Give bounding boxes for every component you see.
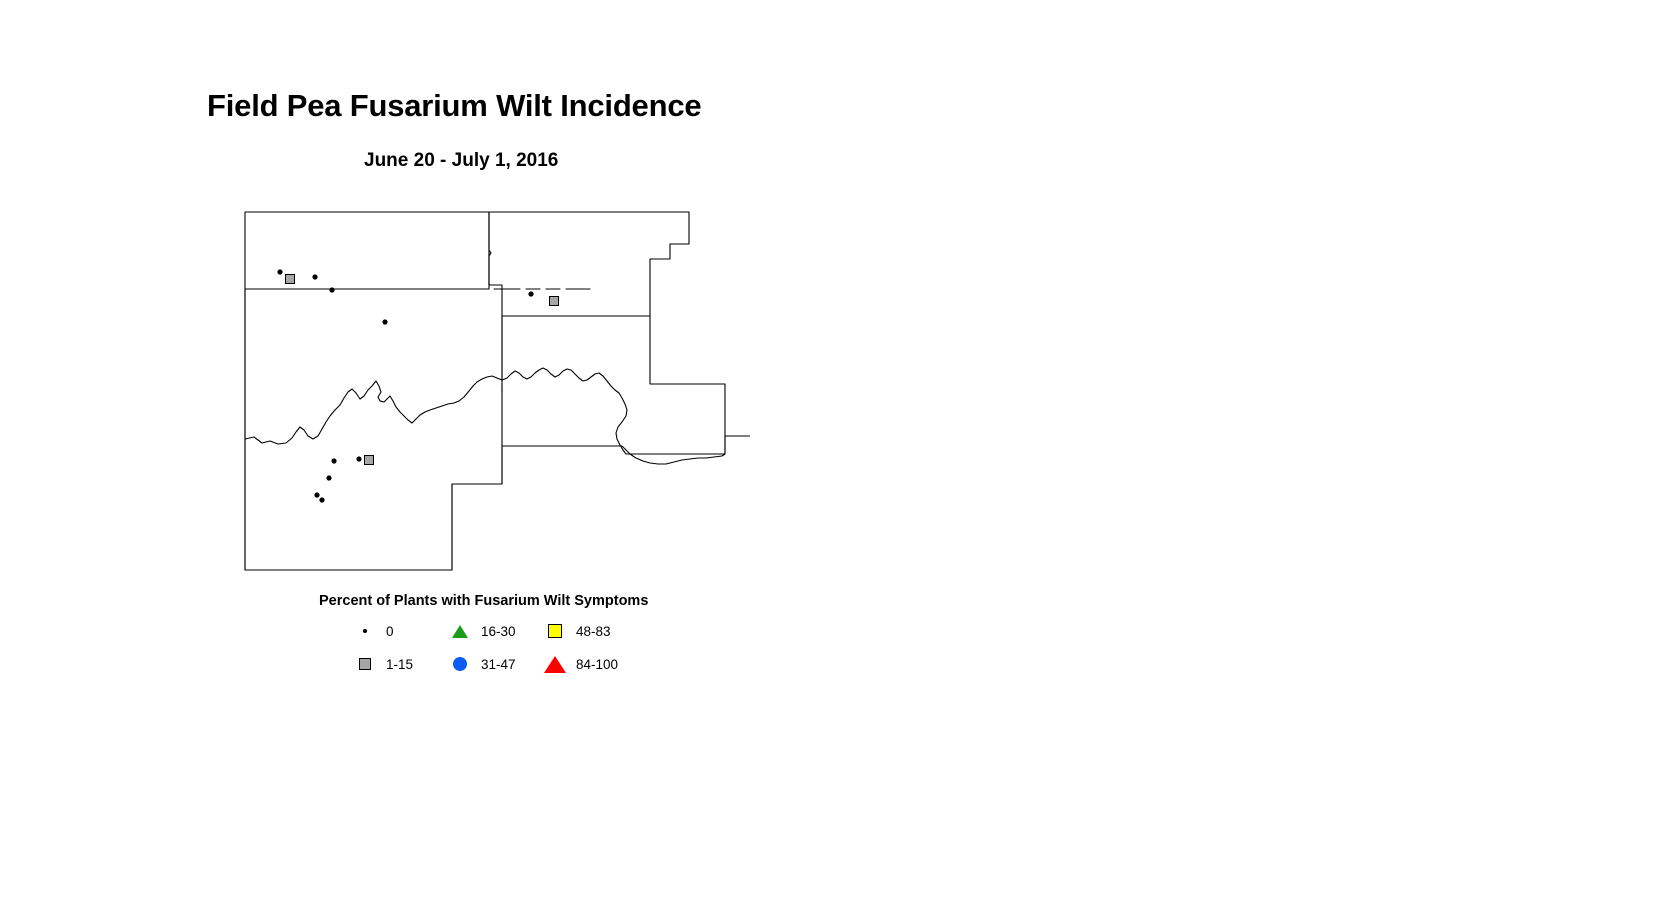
map-data-point <box>356 456 361 461</box>
northeast-county-outline <box>489 212 689 316</box>
river-boundary-east <box>630 454 725 464</box>
gray-square-icon <box>355 654 375 674</box>
south-notch-boundary <box>452 446 502 484</box>
northwest-county-outline <box>245 212 489 289</box>
map-data-point <box>277 269 282 274</box>
legend-entry-48-83: 48-83 <box>545 618 611 644</box>
map-data-point <box>550 297 559 306</box>
blue-circle-icon <box>450 654 470 674</box>
legend-row: 0 16-30 48-83 <box>345 618 685 644</box>
red-triangle-icon <box>545 654 565 674</box>
map-data-point <box>331 458 336 463</box>
map-data-point <box>319 497 324 502</box>
map-data-points <box>277 269 558 502</box>
green-triangle-icon <box>450 621 470 641</box>
legend-entry-0: 0 <box>355 618 394 644</box>
map-data-point <box>286 275 295 284</box>
legend-label: 84-100 <box>576 657 618 672</box>
map-data-point <box>312 274 317 279</box>
river-boundary <box>245 368 630 454</box>
yellow-square-icon <box>545 621 565 641</box>
page-title: Field Pea Fusarium Wilt Incidence <box>207 88 701 124</box>
legend-label: 31-47 <box>481 657 516 672</box>
legend-label: 0 <box>386 624 394 639</box>
main-region-outline <box>245 289 502 570</box>
map-data-point <box>382 319 387 324</box>
map-data-point <box>528 291 533 296</box>
legend-label: 1-15 <box>386 657 413 672</box>
page-subtitle: June 20 - July 1, 2016 <box>364 150 558 172</box>
south-bottom-edge <box>245 484 452 570</box>
map-figure <box>230 196 750 596</box>
legend-entry-1-15: 1-15 <box>355 651 413 677</box>
small-black-dot-icon <box>355 621 375 641</box>
map-data-point <box>326 475 331 480</box>
legend-entry-84-100: 84-100 <box>545 651 618 677</box>
map-page: Field Pea Fusarium Wilt Incidence June 2… <box>0 0 1673 900</box>
east-central-county-outline <box>502 316 725 454</box>
legend-label: 48-83 <box>576 624 611 639</box>
map-data-point <box>365 456 374 465</box>
legend-entry-31-47: 31-47 <box>450 651 516 677</box>
map-data-point <box>329 287 334 292</box>
map-boundaries <box>245 212 750 570</box>
legend: 0 16-30 48-83 1-15 31-47 84-100 <box>345 618 685 680</box>
map-data-point <box>314 492 319 497</box>
west-boundary <box>245 289 452 570</box>
legend-label: 16-30 <box>481 624 516 639</box>
legend-row: 1-15 31-47 84-100 <box>345 651 685 677</box>
legend-entry-16-30: 16-30 <box>450 618 516 644</box>
southeast-step-boundary <box>725 436 750 454</box>
legend-title: Percent of Plants with Fusarium Wilt Sym… <box>319 593 648 609</box>
